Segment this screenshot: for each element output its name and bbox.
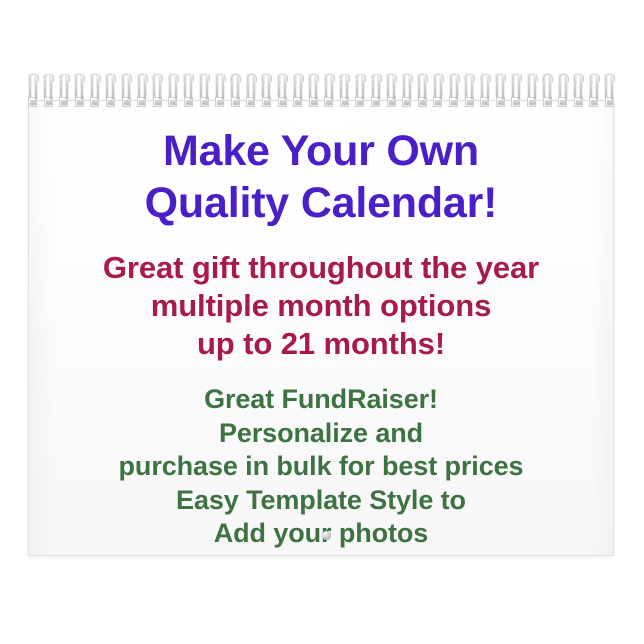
body-line-3: purchase in bulk for best prices [29,450,613,483]
coil-arch [543,74,553,82]
coil-arch [496,74,506,82]
coil-arch [605,74,615,82]
coil-arch [216,74,226,82]
coil-arch [153,74,163,82]
coil-arch [231,74,241,82]
coil-arch [403,74,413,82]
coil-arch [356,74,366,82]
body-line-4: Easy Template Style to [29,484,613,517]
coil-arch [184,74,194,82]
headline-line-2: Quality Calendar! [29,177,613,229]
coil-arch [309,74,319,82]
headline-line-1: Make Your Own [29,125,613,177]
subheadline: Great gift throughout the year multiple … [29,249,613,362]
coil-arch [325,74,335,82]
coil-arch [340,74,350,82]
body-line-1: Great FundRaiser! [29,383,613,416]
coil-arch [434,74,444,82]
coil-arch [247,74,257,82]
coil-arch [106,74,116,82]
calendar-sheet: Make Your Own Quality Calendar! Great gi… [28,100,614,556]
body-copy: Great FundRaiser! Personalize and purcha… [29,383,613,550]
coil-arch [465,74,475,82]
punch-hole-dot [322,531,331,540]
coil-arch [481,74,491,82]
body-line-2: Personalize and [29,417,613,450]
coil-arch [450,74,460,82]
coil-arch [372,74,382,82]
coil-arch [418,74,428,82]
coil-arch [278,74,288,82]
coil-arch [200,74,210,82]
body-line-5: Add your photos [29,517,613,550]
coil-arch [29,74,39,82]
coil-arch [387,74,397,82]
coil-arch [44,74,54,82]
coil-arch [169,74,179,82]
calendar-cover-text: Make Your Own Quality Calendar! Great gi… [29,125,613,551]
page-title: Make Your Own Quality Calendar! [29,125,613,230]
coil-arch [91,74,101,82]
coil-arch [60,74,70,82]
coil-arch [574,74,584,82]
coil-arch [590,74,600,82]
coil-arch [75,74,85,82]
subhead-line-2: multiple month options [29,287,613,325]
coil-arch [559,74,569,82]
subhead-line-3: up to 21 months! [29,325,613,363]
coil-arch [528,74,538,82]
coil-arch [122,74,132,82]
calendar-product-image: Make Your Own Quality Calendar! Great gi… [0,0,644,644]
subhead-line-1: Great gift throughout the year [29,249,613,287]
coil-arch [262,74,272,82]
coil-arch [512,74,522,82]
coil-arch [294,74,304,82]
coil-arch [138,74,148,82]
